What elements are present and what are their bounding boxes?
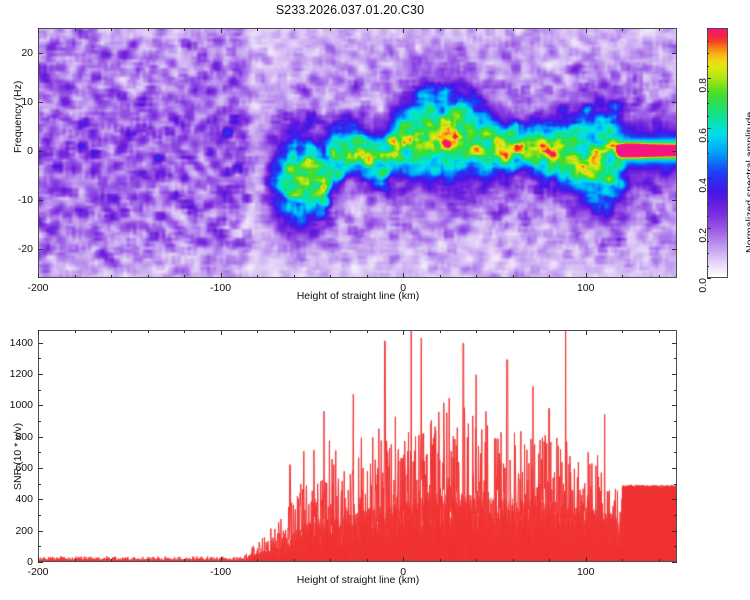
spectrogram-panel bbox=[38, 28, 677, 278]
x-tick-label: 100 bbox=[577, 282, 595, 294]
y-minor-tick bbox=[38, 546, 41, 547]
y-minor-tick bbox=[38, 437, 41, 438]
colorbar-minor-tick bbox=[707, 116, 709, 117]
colorbar-minor-tick bbox=[707, 166, 709, 167]
x-minor-tick bbox=[330, 28, 331, 31]
x-minor-tick bbox=[184, 28, 185, 31]
x-minor-tick bbox=[111, 275, 112, 278]
x-minor-tick bbox=[330, 330, 331, 333]
x-minor-tick bbox=[148, 275, 149, 278]
colorbar-minor-tick bbox=[707, 66, 709, 67]
colorbar-minor-tick bbox=[707, 28, 709, 29]
spectrogram-y-axis-label: Frequency (Hz) bbox=[12, 81, 24, 153]
x-minor-tick bbox=[440, 330, 441, 333]
x-minor-tick bbox=[330, 275, 331, 278]
x-minor-tick bbox=[549, 559, 550, 562]
y-tick-mark bbox=[672, 249, 677, 250]
colorbar-minor-tick bbox=[707, 241, 709, 242]
x-minor-tick bbox=[367, 275, 368, 278]
x-minor-tick bbox=[549, 28, 550, 31]
x-minor-tick bbox=[622, 330, 623, 333]
x-minor-tick bbox=[111, 330, 112, 333]
x-minor-tick bbox=[257, 330, 258, 333]
colorbar-minor-tick bbox=[707, 191, 709, 192]
y-minor-tick bbox=[38, 390, 41, 391]
y-minor-tick bbox=[38, 484, 41, 485]
y-minor-tick bbox=[38, 531, 41, 532]
x-minor-tick bbox=[148, 330, 149, 333]
colorbar-minor-tick bbox=[707, 41, 709, 42]
x-minor-tick bbox=[75, 28, 76, 31]
x-minor-tick bbox=[294, 559, 295, 562]
x-minor-tick bbox=[440, 28, 441, 31]
colorbar-minor-tick bbox=[707, 266, 709, 267]
y-tick-mark bbox=[38, 102, 43, 103]
y-tick-mark bbox=[672, 200, 677, 201]
y-minor-tick bbox=[674, 484, 677, 485]
y-minor-tick bbox=[674, 421, 677, 422]
x-tick-label: -200 bbox=[27, 282, 48, 294]
colorbar-minor-tick bbox=[707, 253, 709, 254]
x-minor-tick bbox=[403, 275, 404, 278]
x-minor-tick bbox=[586, 330, 587, 333]
x-minor-tick bbox=[476, 330, 477, 333]
y-tick-label: 0 bbox=[27, 556, 33, 568]
y-tick-mark bbox=[38, 200, 43, 201]
snr-y-axis-label: SNR (10 * v/v) bbox=[12, 423, 24, 490]
y-minor-tick bbox=[674, 562, 677, 563]
colorbar-minor-tick bbox=[707, 216, 709, 217]
y-minor-tick bbox=[674, 390, 677, 391]
figure-root: S233.2026.037.01.20.C30 -200-10001002010… bbox=[0, 0, 750, 600]
colorbar-minor-tick bbox=[707, 91, 709, 92]
colorbar-minor-tick bbox=[707, 128, 709, 129]
spectrogram-image bbox=[38, 28, 677, 278]
y-tick-label: 1000 bbox=[10, 399, 33, 411]
y-tick-label: 200 bbox=[15, 525, 33, 537]
y-minor-tick bbox=[674, 515, 677, 516]
x-minor-tick bbox=[659, 559, 660, 562]
x-minor-tick bbox=[38, 275, 39, 278]
colorbar-minor-tick bbox=[707, 78, 709, 79]
colorbar-minor-tick bbox=[707, 153, 709, 154]
colorbar-minor-tick bbox=[707, 278, 709, 279]
y-tick-label: -20 bbox=[18, 243, 33, 255]
snr-panel bbox=[38, 330, 677, 562]
x-minor-tick bbox=[586, 559, 587, 562]
colorbar bbox=[707, 28, 728, 278]
x-minor-tick bbox=[403, 330, 404, 333]
x-minor-tick bbox=[513, 559, 514, 562]
x-tick-label: -100 bbox=[210, 566, 231, 578]
page-title: S233.2026.037.01.20.C30 bbox=[0, 3, 700, 17]
colorbar-minor-tick bbox=[707, 228, 709, 229]
y-tick-label: 1400 bbox=[10, 337, 33, 349]
y-minor-tick bbox=[674, 437, 677, 438]
spectrogram-x-axis-label: Height of straight line (km) bbox=[297, 290, 420, 302]
x-minor-tick bbox=[440, 275, 441, 278]
y-tick-label: 400 bbox=[15, 493, 33, 505]
y-minor-tick bbox=[674, 468, 677, 469]
y-tick-mark bbox=[672, 102, 677, 103]
y-tick-label: 1200 bbox=[10, 368, 33, 380]
y-minor-tick bbox=[38, 343, 41, 344]
y-tick-label: 0 bbox=[27, 145, 33, 157]
x-minor-tick bbox=[221, 330, 222, 333]
x-minor-tick bbox=[221, 28, 222, 31]
colorbar-tick-label: 0.0 bbox=[697, 278, 709, 293]
x-minor-tick bbox=[476, 275, 477, 278]
x-minor-tick bbox=[476, 559, 477, 562]
snr-trace bbox=[38, 330, 677, 562]
y-minor-tick bbox=[674, 499, 677, 500]
snr-x-axis-label: Height of straight line (km) bbox=[297, 574, 420, 586]
x-minor-tick bbox=[367, 559, 368, 562]
y-minor-tick bbox=[674, 531, 677, 532]
x-minor-tick bbox=[403, 28, 404, 31]
x-minor-tick bbox=[513, 330, 514, 333]
x-minor-tick bbox=[513, 275, 514, 278]
y-tick-label: 20 bbox=[21, 47, 33, 59]
colorbar-label: Normalized spectral amplitude bbox=[744, 112, 750, 253]
x-minor-tick bbox=[294, 330, 295, 333]
x-minor-tick bbox=[330, 559, 331, 562]
y-minor-tick bbox=[674, 343, 677, 344]
x-minor-tick bbox=[403, 559, 404, 562]
x-minor-tick bbox=[549, 275, 550, 278]
x-minor-tick bbox=[367, 330, 368, 333]
y-tick-mark bbox=[672, 53, 677, 54]
x-minor-tick bbox=[38, 28, 39, 31]
y-minor-tick bbox=[38, 562, 41, 563]
x-minor-tick bbox=[257, 275, 258, 278]
x-minor-tick bbox=[513, 28, 514, 31]
x-minor-tick bbox=[75, 330, 76, 333]
x-minor-tick bbox=[257, 28, 258, 31]
x-minor-tick bbox=[111, 559, 112, 562]
y-tick-label: -10 bbox=[18, 194, 33, 206]
y-tick-mark bbox=[38, 151, 43, 152]
x-minor-tick bbox=[659, 330, 660, 333]
x-minor-tick bbox=[221, 559, 222, 562]
x-minor-tick bbox=[184, 275, 185, 278]
y-minor-tick bbox=[38, 452, 41, 453]
x-minor-tick bbox=[549, 330, 550, 333]
y-minor-tick bbox=[38, 358, 41, 359]
x-tick-label: -100 bbox=[210, 282, 231, 294]
x-minor-tick bbox=[440, 559, 441, 562]
x-minor-tick bbox=[148, 28, 149, 31]
y-tick-mark bbox=[38, 53, 43, 54]
y-minor-tick bbox=[674, 452, 677, 453]
y-minor-tick bbox=[674, 546, 677, 547]
y-minor-tick bbox=[38, 374, 41, 375]
x-tick-label: 100 bbox=[577, 566, 595, 578]
colorbar-minor-tick bbox=[707, 141, 709, 142]
x-minor-tick bbox=[659, 28, 660, 31]
x-minor-tick bbox=[75, 559, 76, 562]
x-minor-tick bbox=[184, 330, 185, 333]
x-minor-tick bbox=[622, 559, 623, 562]
x-minor-tick bbox=[294, 275, 295, 278]
y-minor-tick bbox=[674, 358, 677, 359]
y-minor-tick bbox=[38, 421, 41, 422]
x-minor-tick bbox=[111, 28, 112, 31]
x-minor-tick bbox=[586, 28, 587, 31]
x-minor-tick bbox=[367, 28, 368, 31]
x-minor-tick bbox=[622, 28, 623, 31]
x-minor-tick bbox=[586, 275, 587, 278]
y-minor-tick bbox=[38, 468, 41, 469]
x-minor-tick bbox=[659, 275, 660, 278]
y-minor-tick bbox=[38, 515, 41, 516]
x-minor-tick bbox=[294, 28, 295, 31]
x-minor-tick bbox=[38, 330, 39, 333]
y-minor-tick bbox=[674, 405, 677, 406]
y-tick-mark bbox=[672, 151, 677, 152]
x-minor-tick bbox=[148, 559, 149, 562]
y-minor-tick bbox=[38, 405, 41, 406]
y-tick-mark bbox=[38, 249, 43, 250]
colorbar-minor-tick bbox=[707, 203, 709, 204]
x-minor-tick bbox=[184, 559, 185, 562]
colorbar-minor-tick bbox=[707, 103, 709, 104]
y-minor-tick bbox=[674, 374, 677, 375]
x-minor-tick bbox=[476, 28, 477, 31]
colorbar-gradient bbox=[708, 29, 727, 277]
colorbar-minor-tick bbox=[707, 53, 709, 54]
x-minor-tick bbox=[221, 275, 222, 278]
x-minor-tick bbox=[622, 275, 623, 278]
y-minor-tick bbox=[38, 499, 41, 500]
x-minor-tick bbox=[75, 275, 76, 278]
x-minor-tick bbox=[257, 559, 258, 562]
colorbar-minor-tick bbox=[707, 178, 709, 179]
